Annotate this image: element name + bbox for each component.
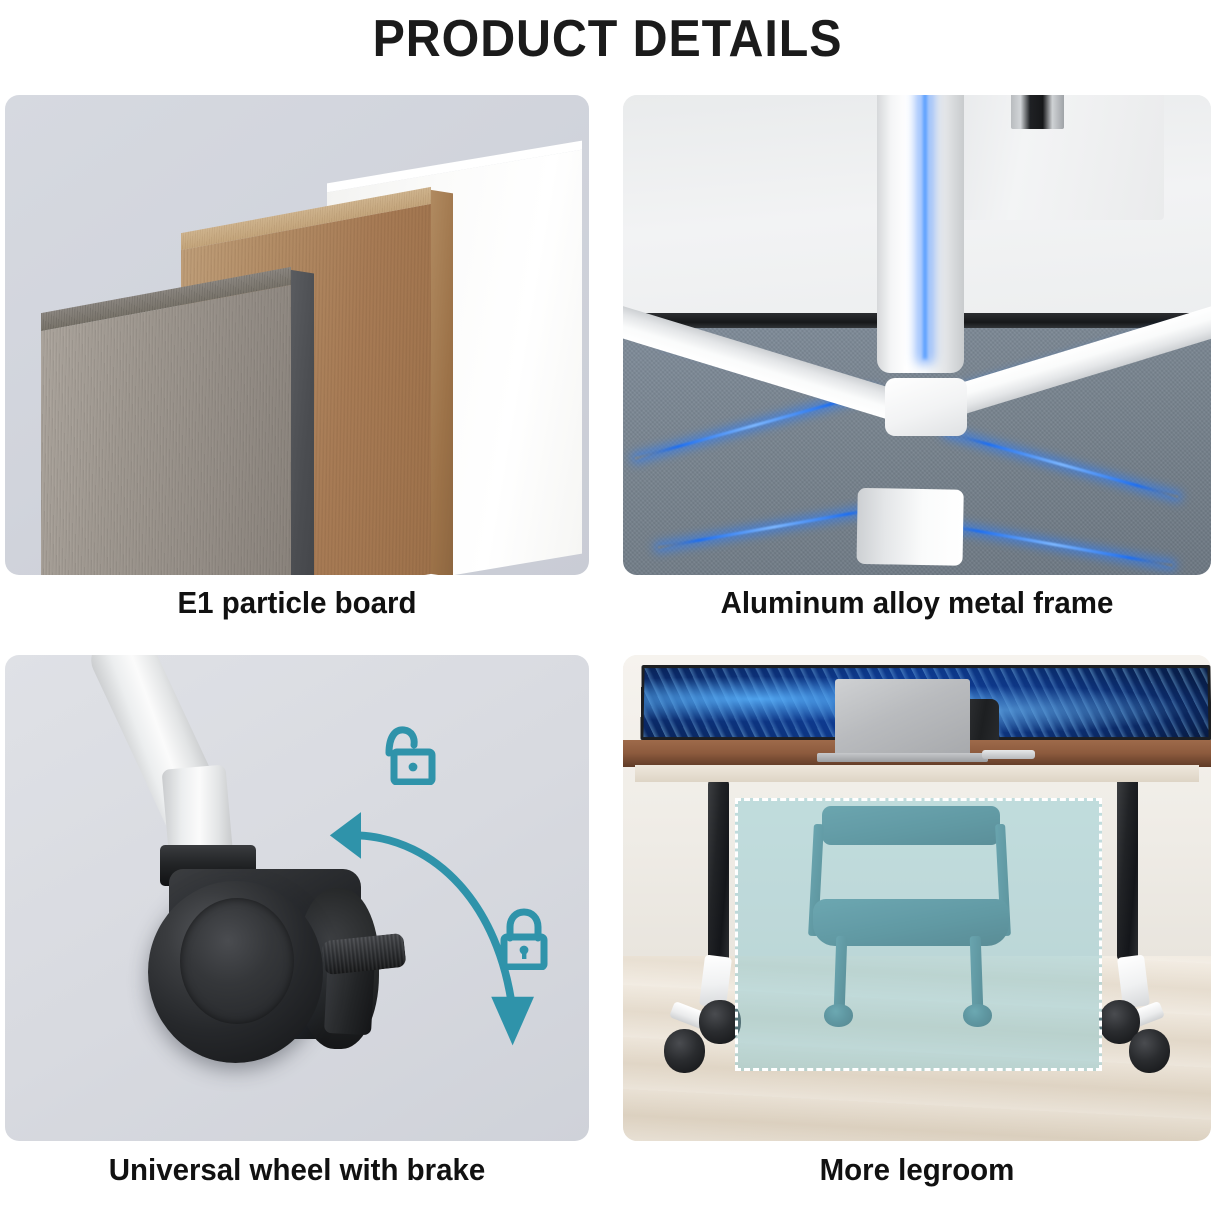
laptop-screen bbox=[835, 679, 970, 757]
caption-particle-board: E1 particle board bbox=[20, 585, 575, 621]
caption-metal-frame: Aluminum alloy metal frame bbox=[638, 585, 1197, 621]
legroom-highlight-area bbox=[735, 798, 1103, 1070]
more-legroom-panel bbox=[623, 655, 1211, 1141]
caption-universal-wheel: Universal wheel with brake bbox=[20, 1152, 575, 1188]
frame-leg-front bbox=[857, 488, 964, 566]
page-title: PRODUCT DETAILS bbox=[43, 0, 1173, 78]
grey-particle-board-slab bbox=[41, 285, 291, 575]
desk-post-left bbox=[708, 779, 729, 964]
laptop-base bbox=[817, 753, 988, 762]
desk-caster-front-right bbox=[1129, 1029, 1170, 1073]
feature-card-particle-board bbox=[5, 95, 589, 575]
grey-slab-side-edge bbox=[291, 270, 314, 575]
blue-glow-line-column bbox=[921, 95, 929, 359]
particle-board-panel bbox=[5, 95, 589, 575]
desk-apron bbox=[635, 765, 1199, 782]
desk-post-right bbox=[1117, 777, 1138, 962]
feature-card-more-legroom bbox=[623, 655, 1211, 1141]
grey-slab-face bbox=[41, 285, 291, 575]
desk-caster-front-left bbox=[664, 1029, 705, 1073]
caption-more-legroom: More legroom bbox=[638, 1152, 1197, 1188]
frame-leg-hub bbox=[885, 378, 967, 436]
caster-wheel-inner-disc bbox=[180, 898, 294, 1024]
oak-slab-side-edge bbox=[431, 190, 453, 575]
locked-padlock-icon bbox=[496, 908, 552, 970]
frame-roller-cylinder bbox=[1011, 95, 1064, 129]
universal-wheel-panel bbox=[5, 655, 589, 1141]
feature-card-universal-wheel bbox=[5, 655, 589, 1141]
unlocked-padlock-icon bbox=[379, 723, 437, 785]
metal-frame-panel bbox=[623, 95, 1211, 575]
feature-card-metal-frame bbox=[623, 95, 1211, 575]
mouse-device bbox=[982, 750, 1035, 758]
